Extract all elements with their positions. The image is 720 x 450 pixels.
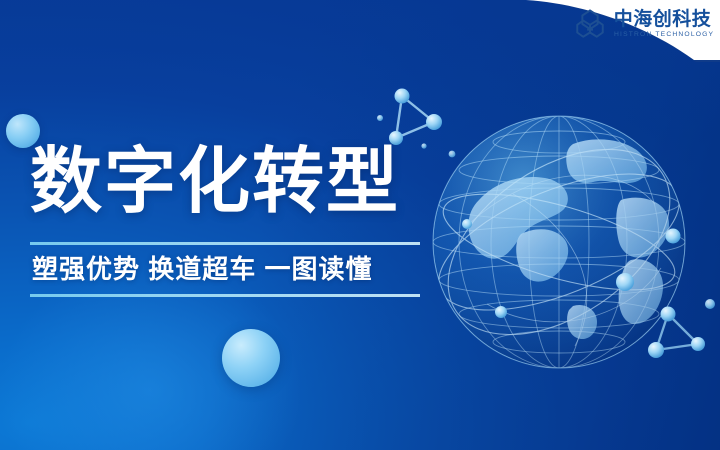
histron-logo-mark [573,7,607,41]
main-title: 数字化转型 [30,146,420,218]
network-node-cluster-bottom [640,292,720,372]
subtitle: 塑强优势 换道超车 一图读懂 [30,245,420,282]
logo-company-cn: 中海创科技 [614,10,712,29]
company-logo: 中海创科技 HISTRON TECHNOLOGY [573,7,712,41]
logo-company-en: HISTRON TECHNOLOGY [614,32,714,39]
rule-above-subtitle [30,242,420,245]
headline-block: 数字化转型 塑强优势 换道超车 一图读懂 [30,146,420,297]
poster-banner: 中海创科技 HISTRON TECHNOLOGY 数字化转型 塑强优势 换道超车… [0,0,720,450]
rule-below-subtitle [30,294,420,297]
decorative-sphere-large [222,329,280,387]
